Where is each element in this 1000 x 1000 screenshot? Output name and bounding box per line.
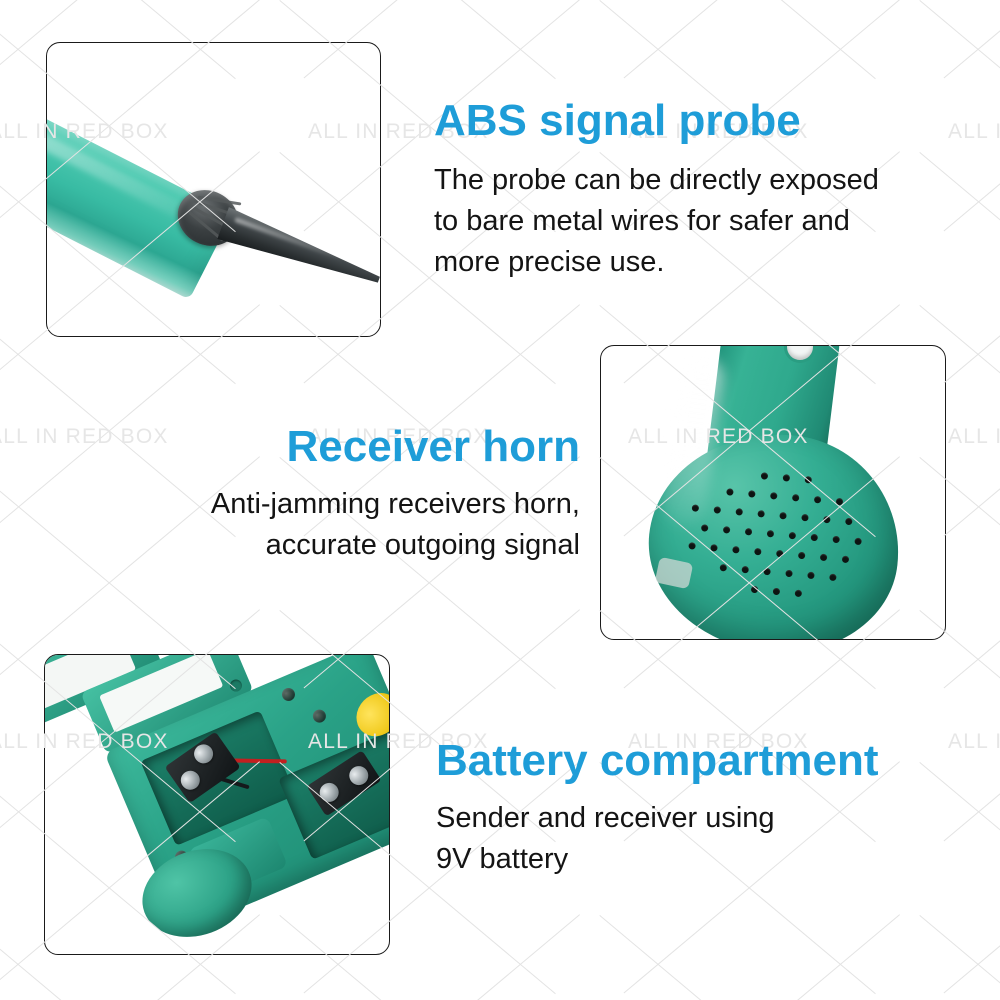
body-probe-line-3: more precise use. (434, 242, 990, 283)
speaker-hole (751, 586, 759, 594)
text-block-probe: ABS signal probe The probe can be direct… (434, 98, 990, 283)
body-horn-line-1: Anti-jamming receivers horn, (130, 484, 580, 525)
speaker-hole (810, 534, 818, 542)
body-receiver-horn: Anti-jamming receivers horn, accurate ou… (130, 484, 580, 566)
watermark-diagonal-line (599, 0, 875, 79)
speaker-hole (767, 530, 775, 538)
speaker-hole (710, 544, 718, 552)
speaker-hole (701, 524, 709, 532)
heading-probe: ABS signal probe (434, 98, 990, 144)
speaker-hole (836, 498, 844, 506)
product-infographic: ABS signal probe The probe can be direct… (0, 0, 1000, 1000)
speaker-hole (763, 568, 771, 576)
speaker-hole (732, 546, 740, 554)
probe-body-shape (46, 64, 233, 299)
speaker-hole (805, 476, 813, 484)
speaker-hole (820, 554, 828, 562)
watermark-diagonal-line (919, 915, 1000, 1000)
watermark-tile: ALL IN RED BOX (600, 915, 920, 1000)
body-battery-line-1: Sender and receiver using (436, 798, 992, 839)
speaker-hole (801, 514, 809, 522)
speaker-hole (692, 504, 700, 512)
watermark-diagonal-line (919, 0, 1000, 79)
speaker-hole (714, 506, 722, 514)
photo-panel-receiver-horn (600, 345, 946, 640)
speaker-hole (807, 572, 815, 580)
speaker-hole (779, 512, 787, 520)
watermark-text: ALL IN RED BOX (948, 425, 1000, 449)
watermark-diagonal-line (599, 915, 875, 1000)
watermark-diagonal-line (944, 304, 1000, 536)
speaker-hole (845, 518, 853, 526)
speaker-hole (792, 494, 800, 502)
speaker-hole (723, 526, 731, 534)
watermark-diagonal-line (944, 0, 1000, 78)
text-block-receiver-horn: Receiver horn Anti-jamming receivers hor… (130, 424, 580, 566)
speaker-hole (688, 542, 696, 550)
speaker-hole (783, 474, 791, 482)
speaker-hole (789, 532, 797, 540)
watermark-diagonal-line (944, 456, 1000, 688)
speaker-hole (720, 564, 728, 572)
text-block-battery: Battery compartment Sender and receiver … (436, 738, 992, 880)
speaker-hole (735, 508, 743, 516)
screw-hole-2 (311, 708, 328, 725)
watermark-diagonal-line (944, 914, 1000, 1000)
speaker-hole (823, 516, 831, 524)
watermark-tile: ALL IN RED BOX (920, 915, 1000, 1000)
watermark-diagonal-line (624, 914, 900, 1000)
speaker-hole (748, 490, 756, 498)
speaker-hole (829, 574, 837, 582)
speaker-hole (798, 552, 806, 560)
speaker-hole (761, 472, 769, 480)
speaker-hole (770, 492, 778, 500)
speaker-hole (785, 570, 793, 578)
body-probe-line-2: to bare metal wires for safer and (434, 201, 990, 242)
body-probe-line-1: The probe can be directly exposed (434, 160, 990, 201)
speaker-hole (776, 550, 784, 558)
heading-receiver-horn: Receiver horn (130, 424, 580, 470)
speaker-hole (814, 496, 822, 504)
speaker-hole (754, 548, 762, 556)
speaker-hole (726, 488, 734, 496)
watermark-diagonal-line (624, 0, 900, 78)
photo-panel-probe (46, 42, 381, 337)
photo-panel-battery-compartment (44, 654, 390, 955)
speaker-hole (832, 536, 840, 544)
body-probe: The probe can be directly exposed to bar… (434, 160, 990, 284)
speaker-hole (745, 528, 753, 536)
screw-hole-1 (280, 686, 297, 703)
heading-battery: Battery compartment (436, 738, 992, 784)
speaker-hole (773, 588, 781, 596)
speaker-hole (842, 556, 850, 564)
speaker-hole (854, 538, 862, 546)
probe-metal-tip-shape (217, 207, 381, 296)
body-battery: Sender and receiver using 9V battery (436, 798, 992, 880)
body-battery-line-2: 9V battery (436, 839, 992, 880)
speaker-hole (757, 510, 765, 518)
speaker-hole (741, 566, 749, 574)
body-horn-line-2: accurate outgoing signal (130, 525, 580, 566)
speaker-grille (683, 466, 875, 623)
speaker-hole (795, 590, 803, 598)
